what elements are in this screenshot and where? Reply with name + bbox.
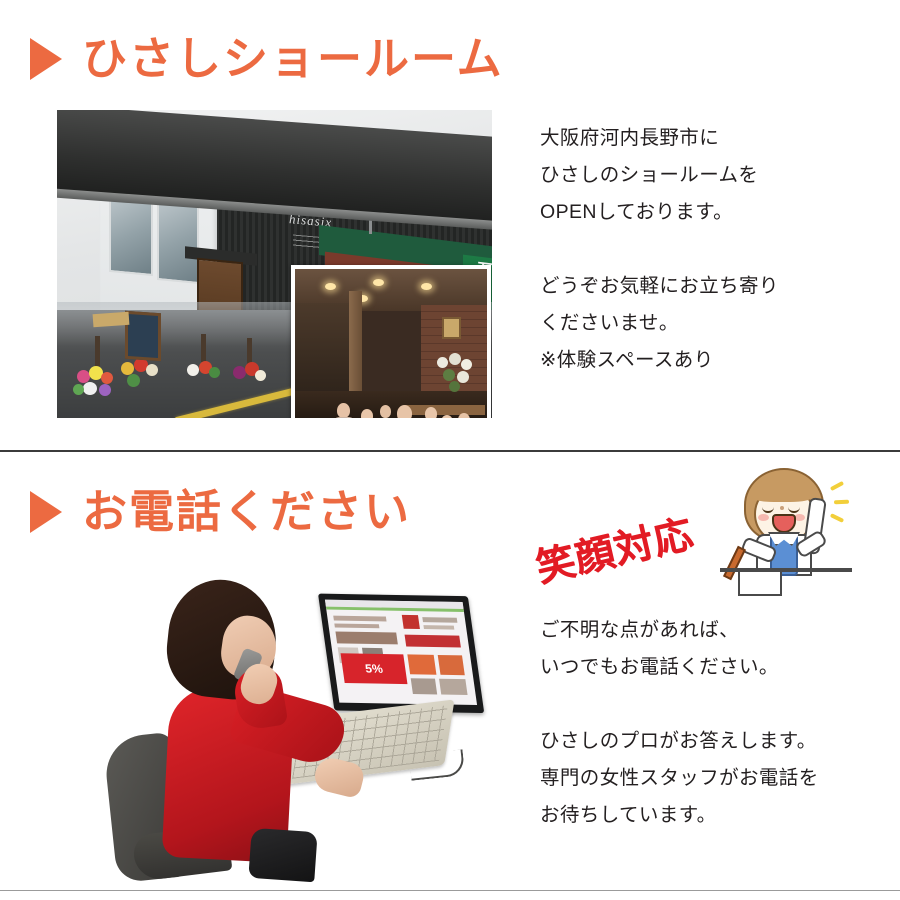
- section-divider: [0, 450, 900, 452]
- showroom-heading-label: ひさしショールーム: [82, 36, 504, 81]
- inset-left-wall: [295, 303, 355, 393]
- screen-badge-label: 5%: [341, 653, 408, 684]
- chalkboard-sign: [125, 311, 161, 362]
- triangle-right-icon: [30, 491, 62, 533]
- page-root: ひさしショールーム hisasix 石: [0, 0, 900, 900]
- wooden-sign: [93, 312, 130, 327]
- inset-flower-arrangement: [435, 353, 481, 399]
- inset-bench: [405, 405, 485, 415]
- note-paper-icon: [738, 570, 782, 596]
- showroom-body-text: 大阪府河内長野市に ひさしのショールームを OPENしております。 どうぞお気軽…: [540, 120, 779, 379]
- monitor-bezel: 5%: [318, 594, 484, 713]
- staff-group-photo: [291, 265, 491, 418]
- showroom-building-photo: hisasix 石: [57, 110, 492, 418]
- phone-operator-illustration: [720, 462, 852, 594]
- phone-heading: お電話ください: [30, 489, 411, 534]
- inset-picture-frame: [442, 317, 461, 339]
- woman-skirt: [248, 828, 317, 882]
- bottom-divider: [0, 890, 900, 891]
- woman-on-phone-photo: 5%: [110, 580, 490, 880]
- operator-nose: [780, 506, 784, 510]
- triangle-right-icon: [30, 38, 62, 80]
- phone-body-text: ご不明な点があれば、 いつでもお電話ください。 ひさしのプロがお答えします。 専…: [540, 612, 819, 834]
- smile-response-stamp: 笑顔対応: [530, 503, 699, 594]
- screen-promo-banner: 5%: [341, 653, 408, 684]
- showroom-heading: ひさしショールーム: [30, 36, 504, 81]
- operator-cheek-left: [758, 514, 769, 521]
- phone-heading-label: お電話ください: [82, 489, 411, 534]
- monitor-screen: 5%: [325, 600, 477, 705]
